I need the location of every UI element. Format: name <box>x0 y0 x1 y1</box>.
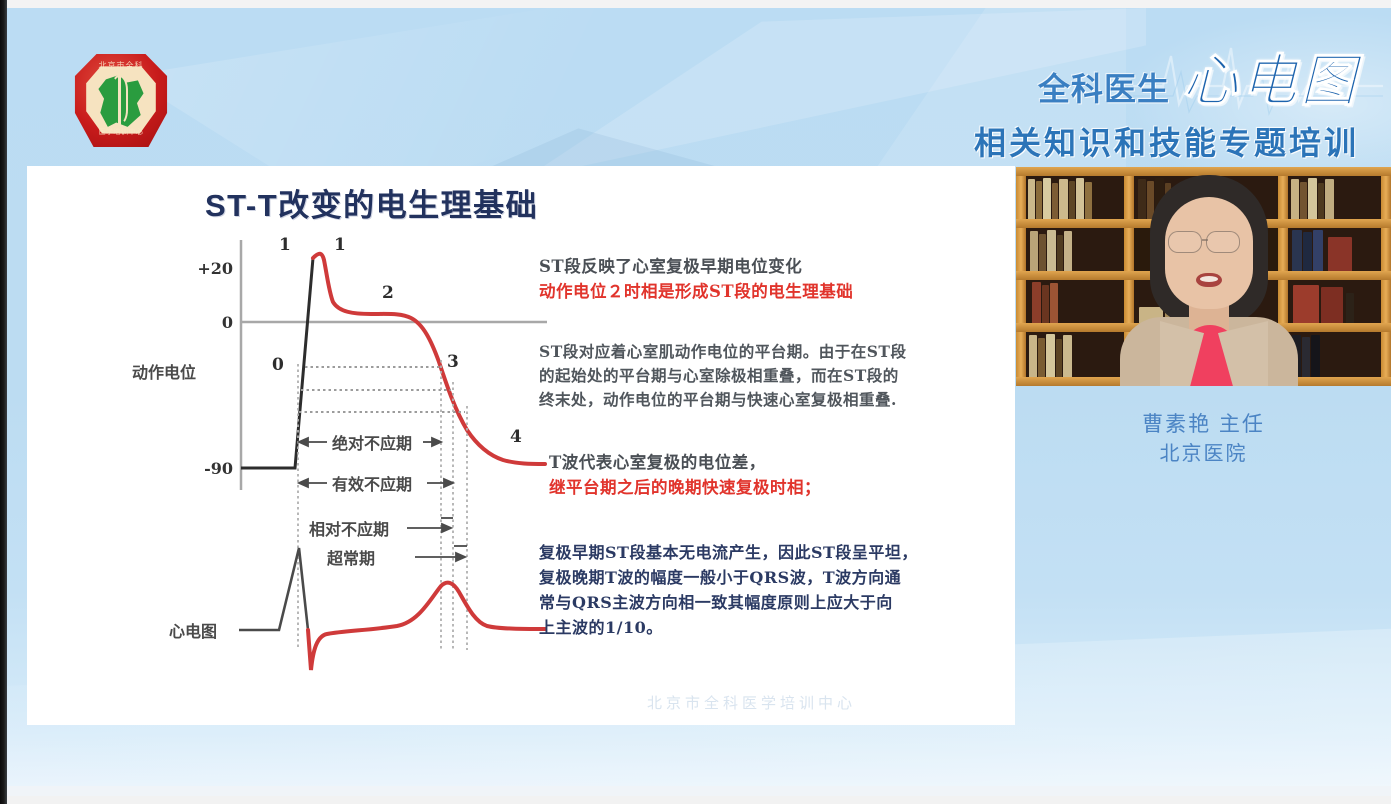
slide-watermark: 北京市全科医学培训中心 <box>647 692 856 713</box>
presenter-teeth <box>1200 276 1218 282</box>
brand-subtitle-small: 全科医生 <box>1038 64 1170 110</box>
text-line: 上主波的1/10。 <box>539 615 1005 640</box>
svg-text:0: 0 <box>272 355 284 375</box>
svg-text:有效不应期: 有效不应期 <box>332 475 412 494</box>
presentation-slide: ST-T改变的电生理基础 mV +20 0 -90 动作电位 1 x <box>27 166 1015 725</box>
svg-text:绝对不应期: 绝对不应期 <box>332 434 412 453</box>
svg-text:动作电位: 动作电位 <box>132 363 196 382</box>
slide-text-column: ST段反映了心室复极早期电位变化 动作电位２时相是形成ST段的电生理基础 ST段… <box>539 254 1005 640</box>
text-line-highlight: 动作电位２时相是形成ST段的电生理基础 <box>539 279 1005 304</box>
text-line: ST段反映了心室复极早期电位变化 <box>539 254 1005 279</box>
svg-text:1: 1 <box>334 235 346 255</box>
text-block-4: 复极早期ST段基本无电流产生，因此ST段呈平坦， 复极晚期T波的幅度一般小于QR… <box>539 540 1005 640</box>
brand-title-large: 心电图 <box>1182 52 1359 110</box>
speaker-name: 曹素艳 主任 <box>1016 410 1391 440</box>
presenter-figure <box>1134 175 1284 386</box>
speaker-organization: 北京医院 <box>1016 440 1391 469</box>
organization-logo-icon: 北京市全科 医学培训中心 <box>72 51 170 151</box>
svg-text:3: 3 <box>447 352 459 372</box>
brand-title-row: 全科医生 心电图 <box>929 48 1359 110</box>
action-potential-diagram: mV +20 0 -90 动作电位 1 x 1 2 3 4 0 <box>27 230 547 725</box>
svg-text:-90: -90 <box>204 459 233 478</box>
svg-text:超常期: 超常期 <box>326 549 375 568</box>
svg-text:0: 0 <box>222 313 233 332</box>
text-line: ST段对应着心室肌动作电位的平台期。由于在ST段 <box>539 340 1005 364</box>
presenter-face <box>1165 197 1253 309</box>
text-line: 常与QRS主波方向相一致其幅度原则上应大于向 <box>539 590 1005 615</box>
svg-text:2: 2 <box>382 283 394 303</box>
text-line-highlight: 继平台期之后的晚期快速复极时相； <box>549 475 1005 500</box>
text-line: 终末处，动作电位的平台期与快速心室复极相重叠. <box>539 388 1005 412</box>
text-line: T波代表心室复极的电位差， <box>549 450 1005 475</box>
svg-text:mV: mV <box>186 230 218 233</box>
text-line: 复极早期ST段基本无电流产生，因此ST段呈平坦， <box>539 540 1005 565</box>
page-header: 北京市全科 医学培训中心 全科医生 心电图 相关知识和技能专题培训 <box>6 8 1391 165</box>
svg-text:心电图: 心电图 <box>169 622 217 641</box>
screen-root: 北京市全科 医学培训中心 全科医生 心电图 相关知识和技能专题培训 ST-T改变… <box>0 0 1391 804</box>
brand-tagline: 相关知识和技能专题培训 <box>929 118 1359 164</box>
svg-text:+20: +20 <box>197 259 233 278</box>
text-block-2: ST段对应着心室肌动作电位的平台期。由于在ST段 的起始处的平台期与心室除极相重… <box>539 340 1005 412</box>
logo-top-text: 北京市全科 <box>92 60 151 86</box>
diagram-svg: mV +20 0 -90 动作电位 1 x 1 2 3 4 0 <box>27 230 547 725</box>
bottom-strip <box>6 786 1391 796</box>
window-top-edge <box>0 0 1391 8</box>
speaker-info: 曹素艳 主任 北京医院 <box>1016 410 1391 469</box>
slide-title: ST-T改变的电生理基础 <box>205 180 538 225</box>
text-line: 复极晚期T波的幅度一般小于QRS波，T波方向通 <box>539 565 1005 590</box>
glasses-right-icon <box>1206 231 1240 253</box>
presenter-video[interactable] <box>1016 167 1391 386</box>
text-block-1: ST段反映了心室复极早期电位变化 动作电位２时相是形成ST段的电生理基础 <box>539 254 1005 304</box>
text-block-3: T波代表心室复极的电位差， 继平台期之后的晚期快速复极时相； <box>539 450 1005 500</box>
glasses-left-icon <box>1168 231 1202 253</box>
logo-bottom-text: 医学培训中心 <box>80 127 162 149</box>
brand-title-group: 全科医生 心电图 相关知识和技能专题培训 <box>929 48 1359 164</box>
glasses-bridge <box>1202 239 1208 241</box>
svg-text:相对不应期: 相对不应期 <box>309 520 389 539</box>
svg-text:4: 4 <box>510 427 522 447</box>
text-line: 的起始处的平台期与心室除极相重叠，而在ST段的 <box>539 364 1005 388</box>
window-left-edge <box>0 0 7 804</box>
